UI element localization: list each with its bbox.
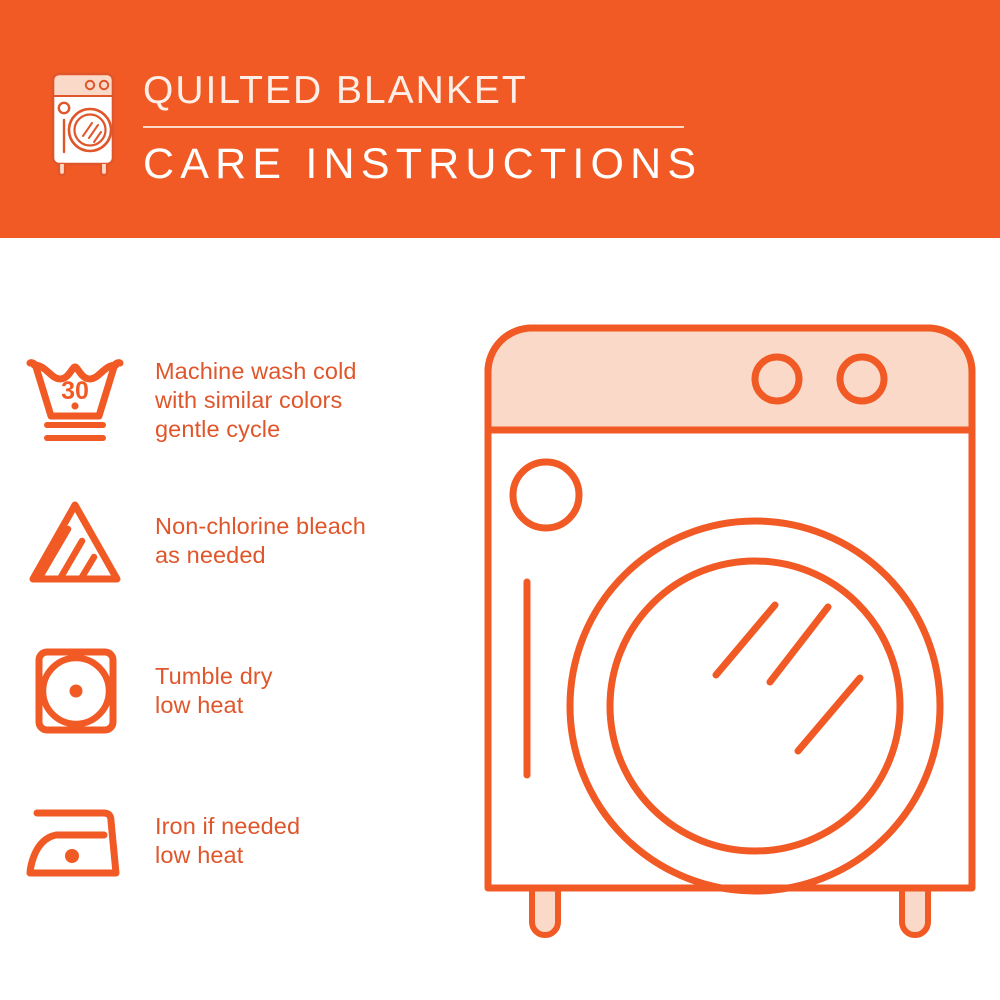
leg-right bbox=[902, 884, 928, 935]
care-row: Non-chlorine bleach as needed bbox=[0, 478, 480, 603]
header-band: QUILTED BLANKET CARE INSTRUCTIONS bbox=[0, 0, 1000, 238]
care-instruction-list: 30 Machine wash cold with similar colors… bbox=[0, 238, 480, 1000]
care-row: 30 Machine wash cold with similar colors… bbox=[0, 338, 480, 463]
tumble-dry-low-heat-icon bbox=[0, 628, 150, 753]
leg-left bbox=[532, 884, 558, 935]
care-instructions-page: QUILTED BLANKET CARE INSTRUCTIONS 30 bbox=[0, 0, 1000, 1000]
page-title: QUILTED BLANKET bbox=[143, 68, 703, 114]
front-load-washing-machine-illustration bbox=[470, 310, 990, 950]
control-panel bbox=[488, 328, 972, 430]
care-text: Tumble dry low heat bbox=[150, 662, 273, 720]
header-text-block: QUILTED BLANKET CARE INSTRUCTIONS bbox=[143, 68, 703, 189]
washing-machine-icon bbox=[45, 68, 125, 178]
non-chlorine-bleach-triangle-icon bbox=[0, 478, 150, 603]
iron-low-heat-icon bbox=[0, 778, 150, 903]
wash-tub-30-gentle-icon: 30 bbox=[0, 338, 150, 463]
care-text: Iron if needed low heat bbox=[150, 812, 300, 870]
care-text: Machine wash cold with similar colors ge… bbox=[150, 357, 357, 444]
page-subtitle: CARE INSTRUCTIONS bbox=[143, 139, 703, 189]
wash-temperature-label: 30 bbox=[61, 377, 89, 405]
care-row: Iron if needed low heat bbox=[0, 778, 480, 903]
care-row: Tumble dry low heat bbox=[0, 628, 480, 753]
care-text: Non-chlorine bleach as needed bbox=[150, 512, 366, 570]
title-divider bbox=[143, 126, 684, 128]
